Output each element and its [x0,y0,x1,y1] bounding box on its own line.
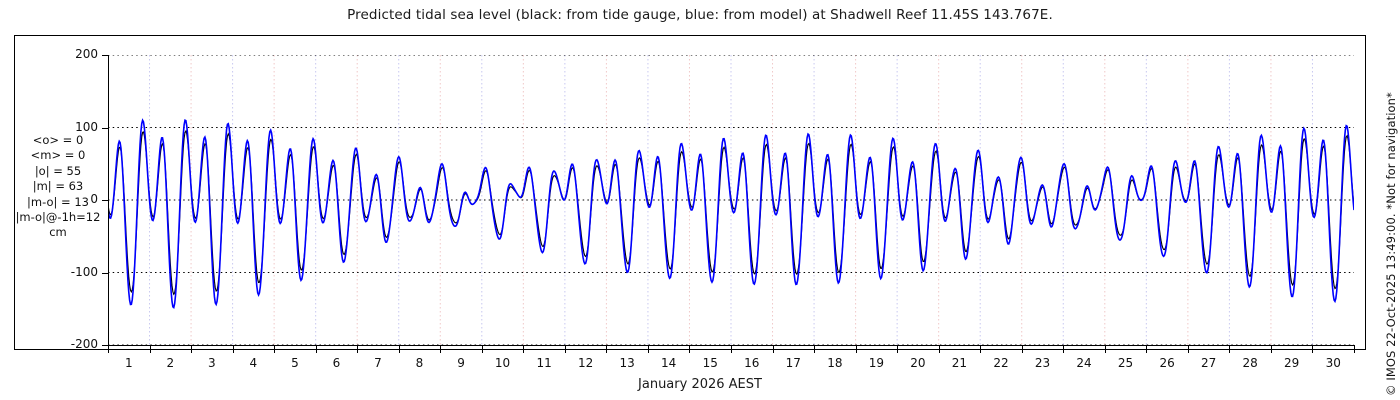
statistics-line: <m> = 0 [6,148,110,163]
statistics-line: |m-o|@-1h=12 [6,210,110,225]
x-axis-tick-label: 6 [316,356,356,370]
y-axis-tick-label: 0 [0,193,98,205]
x-axis-tick [1229,345,1230,353]
x-axis-tick [939,345,940,353]
x-axis-tick [1354,345,1355,353]
x-axis-tick-label: 3 [192,356,232,370]
x-axis-tick [1022,345,1023,353]
x-axis-tick [1188,345,1189,353]
x-axis-tick-label: 19 [856,356,896,370]
x-axis-tick-label: 4 [233,356,273,370]
x-axis-tick-label: 28 [1230,356,1270,370]
x-axis-tick [565,345,566,353]
x-axis-tick [648,345,649,353]
y-axis-label-wrap: -200 [0,338,98,350]
y-axis-tick [102,55,109,56]
y-axis-label-wrap: -100 [0,266,98,278]
tidal-chart-page: Predicted tidal sea level (black: from t… [0,0,1400,400]
x-axis-tick [399,345,400,353]
y-axis-tick-label: 200 [0,48,98,60]
x-axis-tick-label: 29 [1272,356,1312,370]
tide-plot-svg [108,55,1354,345]
x-axis-tick-label: 16 [732,356,772,370]
x-axis-tick [150,345,151,353]
x-axis-tick-label: 23 [1023,356,1063,370]
y-axis-label-wrap: 100 [0,121,98,133]
x-axis-tick-label: 15 [690,356,730,370]
x-axis-tick-label: 22 [981,356,1021,370]
x-axis-tick [689,345,690,353]
x-axis-tick-label: 14 [649,356,689,370]
x-axis-tick-label: 10 [483,356,523,370]
y-axis-tick [102,128,109,129]
x-axis-tick [897,345,898,353]
x-axis-tick [814,345,815,353]
x-axis-tick [233,345,234,353]
statistics-block: <o> = 0<m> = 0|o| = 55|m| = 63|m-o| = 13… [6,133,110,241]
x-axis-tick [274,345,275,353]
y-axis-tick-label: -100 [0,266,98,278]
x-axis-tick [108,345,109,353]
x-axis-tick-label: 1 [109,356,149,370]
x-axis-tick-label: 20 [898,356,938,370]
y-axis-label-wrap: 200 [0,48,98,60]
statistics-line: <o> = 0 [6,133,110,148]
x-axis-tick [523,345,524,353]
x-axis-title: January 2026 AEST [0,377,1400,392]
x-axis-tick-label: 8 [400,356,440,370]
y-axis-tick [102,200,109,201]
x-axis-tick-label: 2 [150,356,190,370]
x-axis-tick [1063,345,1064,353]
x-axis-tick-label: 21 [939,356,979,370]
page-title: Predicted tidal sea level (black: from t… [0,7,1400,23]
x-axis-tick [482,345,483,353]
x-axis-tick [357,345,358,353]
y-axis-tick-label: 100 [0,121,98,133]
statistics-line: cm [6,225,110,240]
x-axis-tick [1146,345,1147,353]
x-axis-tick [1312,345,1313,353]
x-axis-tick-label: 24 [1064,356,1104,370]
x-axis-tick [856,345,857,353]
x-axis-tick [191,345,192,353]
x-axis-tick [606,345,607,353]
x-axis-tick-label: 17 [773,356,813,370]
x-axis-tick-label: 12 [566,356,606,370]
x-axis-tick [316,345,317,353]
y-axis-label-wrap: 0 [0,193,98,205]
y-axis-tick-label: -200 [0,338,98,350]
x-axis-tick-label: 7 [358,356,398,370]
x-axis-tick [1105,345,1106,353]
x-axis-tick [980,345,981,353]
x-axis-tick [1271,345,1272,353]
x-axis-tick-label: 26 [1147,356,1187,370]
x-axis-tick-label: 27 [1189,356,1229,370]
y-axis-tick [102,273,109,274]
x-axis-tick-label: 18 [815,356,855,370]
statistics-line: |o| = 55 [6,164,110,179]
x-axis-tick-label: 30 [1313,356,1353,370]
credit-text: © IMOS 22-Oct-2025 13:49:00. *Not for na… [1384,92,1398,396]
x-axis-tick-label: 9 [441,356,481,370]
credit-container: © IMOS 22-Oct-2025 13:49:00. *Not for na… [1379,0,1400,400]
x-axis-tick-label: 13 [607,356,647,370]
x-axis-tick [773,345,774,353]
x-axis-tick-label: 11 [524,356,564,370]
x-axis-tick-label: 5 [275,356,315,370]
plot-area [108,55,1354,345]
x-axis-tick-label: 25 [1106,356,1146,370]
x-axis-tick [440,345,441,353]
x-axis-tick [731,345,732,353]
